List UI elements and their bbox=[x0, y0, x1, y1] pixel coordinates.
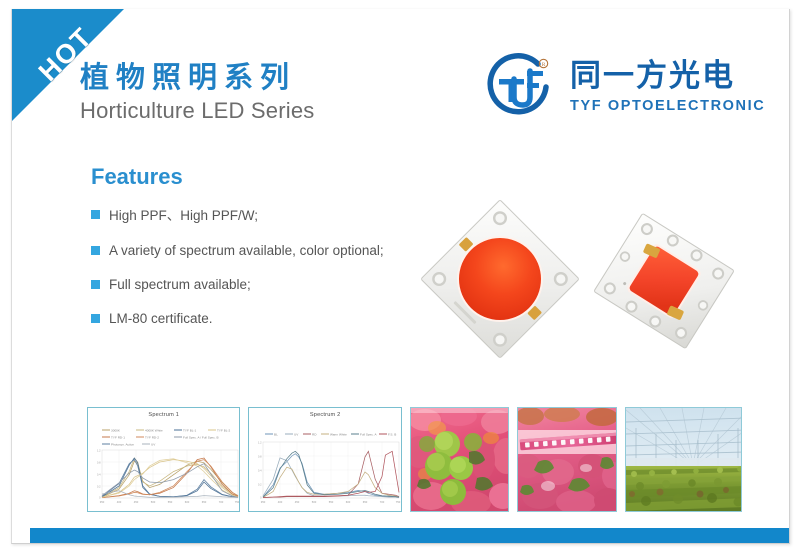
svg-text:0: 0 bbox=[261, 497, 263, 500]
page-title-en: Horticulture LED Series bbox=[80, 98, 314, 124]
brand-logo: R 同一方光电 TYF OPTOELECTRONIC bbox=[480, 49, 765, 125]
svg-text:450: 450 bbox=[134, 500, 139, 504]
svg-text:TYF RD-2: TYF RD-2 bbox=[145, 435, 159, 439]
feature-text: A variety of spectrum available, color o… bbox=[109, 243, 384, 258]
svg-text:750: 750 bbox=[396, 500, 401, 504]
svg-text:750: 750 bbox=[235, 500, 240, 504]
svg-text:Warm White: Warm White bbox=[330, 432, 347, 436]
tomato-plants-photo bbox=[410, 407, 510, 512]
brand-name-en: TYF OPTOELECTRONIC bbox=[570, 98, 765, 114]
spectrum-1-plot: 3000K 4000K White TYF BL-1 TYF BL-2 TYF … bbox=[90, 410, 240, 509]
grow-light-bar-photo bbox=[517, 407, 617, 512]
svg-text:TYF BL-1: TYF BL-1 bbox=[183, 428, 197, 432]
gallery-strip: Spectrum 1 3000K bbox=[87, 407, 742, 512]
svg-text:700: 700 bbox=[219, 500, 224, 504]
svg-text:3000K: 3000K bbox=[111, 428, 121, 432]
feature-text: Full spectrum available; bbox=[109, 277, 251, 292]
bullet-square-icon bbox=[91, 246, 100, 255]
svg-text:RD: RD bbox=[312, 432, 317, 436]
svg-text:1.2: 1.2 bbox=[258, 442, 262, 445]
svg-text:0.4: 0.4 bbox=[97, 474, 101, 477]
svg-text:0.2: 0.2 bbox=[258, 484, 262, 487]
svg-text:650: 650 bbox=[363, 500, 368, 504]
svg-text:400: 400 bbox=[117, 500, 122, 504]
svg-text:600: 600 bbox=[346, 500, 351, 504]
svg-text:UV: UV bbox=[151, 442, 156, 446]
svg-text:550: 550 bbox=[168, 500, 173, 504]
spectrum-2-chart: Spectrum 2 BL UV RD W bbox=[248, 407, 401, 512]
brand-name-cn: 同一方光电 bbox=[570, 61, 765, 92]
svg-text:500: 500 bbox=[312, 500, 317, 504]
svg-text:700: 700 bbox=[380, 500, 385, 504]
greenhouse-photo bbox=[625, 407, 742, 512]
svg-text:UV: UV bbox=[294, 432, 299, 436]
svg-text:600: 600 bbox=[185, 500, 190, 504]
svg-text:0.2: 0.2 bbox=[97, 486, 101, 489]
svg-text:1.2: 1.2 bbox=[97, 450, 101, 453]
bullet-square-icon bbox=[91, 314, 100, 323]
svg-text:0.4: 0.4 bbox=[258, 470, 262, 473]
spectrum-1-chart: Spectrum 1 3000K bbox=[87, 407, 240, 512]
spectrum-2-plot: BL UV RD Warm White Full Spec. A F.S. B bbox=[251, 410, 401, 509]
svg-text:450: 450 bbox=[295, 500, 300, 504]
svg-text:0.8: 0.8 bbox=[97, 462, 101, 465]
spectrum-2-title: Spectrum 2 bbox=[249, 412, 400, 418]
square-cob-led-image bbox=[588, 205, 740, 357]
svg-text:Full Spec. A / Full Spec. B: Full Spec. A / Full Spec. B bbox=[183, 435, 219, 439]
svg-text:R: R bbox=[542, 62, 546, 68]
svg-text:0: 0 bbox=[99, 497, 101, 500]
brand-text: 同一方光电 TYF OPTOELECTRONIC bbox=[570, 61, 765, 114]
bullet-square-icon bbox=[91, 280, 100, 289]
svg-text:4000K White: 4000K White bbox=[145, 428, 163, 432]
feature-text: LM-80 certificate. bbox=[109, 311, 213, 326]
feature-text: High PPF、High PPF/W; bbox=[109, 204, 258, 224]
product-page: HOT 植物照明系列 Horticulture LED Series bbox=[0, 0, 800, 553]
svg-text:Full Spec. A: Full Spec. A bbox=[360, 432, 377, 436]
svg-text:400: 400 bbox=[278, 500, 283, 504]
svg-text:BL: BL bbox=[274, 432, 278, 436]
svg-text:550: 550 bbox=[329, 500, 334, 504]
svg-text:350: 350 bbox=[100, 500, 105, 504]
svg-text:500: 500 bbox=[151, 500, 156, 504]
features-heading: Features bbox=[91, 164, 491, 190]
svg-text:350: 350 bbox=[261, 500, 266, 504]
svg-text:TYF RD-1: TYF RD-1 bbox=[111, 435, 125, 439]
header-title-block: 植物照明系列 Horticulture LED Series bbox=[80, 61, 314, 124]
tyf-monogram-icon: R bbox=[480, 49, 556, 125]
svg-text:650: 650 bbox=[202, 500, 207, 504]
spectrum-1-title: Spectrum 1 bbox=[88, 412, 239, 418]
svg-text:F.S. B: F.S. B bbox=[388, 432, 396, 436]
bullet-square-icon bbox=[91, 210, 100, 219]
footer-bar bbox=[30, 528, 790, 544]
page-title-cn: 植物照明系列 bbox=[80, 61, 314, 94]
svg-text:TYF BL-2: TYF BL-2 bbox=[217, 428, 231, 432]
svg-text:0.8: 0.8 bbox=[258, 456, 262, 459]
page-sheet: HOT 植物照明系列 Horticulture LED Series bbox=[11, 9, 790, 544]
round-cob-led-image bbox=[416, 195, 584, 363]
svg-text:Photosyn. Action: Photosyn. Action bbox=[111, 442, 134, 446]
